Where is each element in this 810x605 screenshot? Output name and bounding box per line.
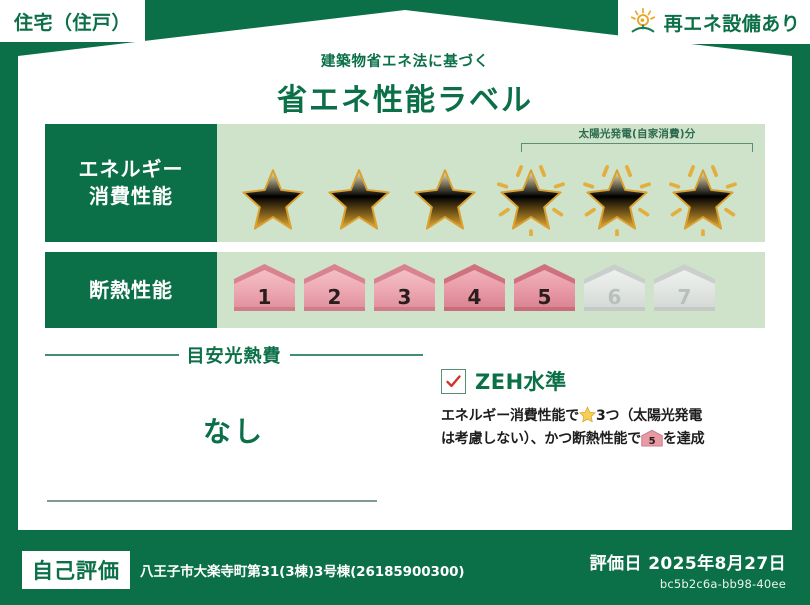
insulation-performance-body: 1234567 [217,252,765,328]
zeh-block: ZEH水準 エネルギー消費性能で 3つ（太陽光発電 は考慮しない）、かつ断熱性能… [423,342,765,512]
utility-cost-heading-text: 目安光熱費 [187,342,282,368]
zeh-desc-part2: は考慮しない）、かつ断熱性能で [441,431,641,447]
insulation-house-scale: 1234567 [231,261,718,315]
utility-cost-block: 目安光熱費 なし [45,342,423,512]
insulation-performance-label: 断熱性能 [45,252,217,328]
lower-section: 目安光熱費 なし ZEH水準 エネルギー消費性能で 3つ（太陽光発電 は考慮しな… [45,342,765,512]
utility-cost-heading: 目安光熱費 [45,342,423,368]
energy-star-rating [217,162,765,236]
utility-cost-bottom-rule [47,500,377,502]
insulation-house-number: 7 [678,285,692,315]
star-solar [575,162,659,236]
sun-icon [628,7,658,37]
insulation-label-text: 断熱性能 [89,277,173,304]
inline-house-icon: 5 [641,429,663,447]
energy-performance-row: エネルギー 消費性能 太陽光発電(自家消費)分 [45,124,765,242]
energy-performance-body: 太陽光発電(自家消費)分 [217,124,765,242]
inline-house-level: 5 [641,437,663,447]
evaluation-date: 評価日 2025年8月27日 [590,549,786,574]
insulation-house-number: 5 [538,285,552,315]
insulation-performance-row: 断熱性能 1234567 [45,252,765,328]
solar-bracket [521,143,753,152]
inline-star-icon [579,406,596,423]
utility-cost-value: なし [45,410,423,450]
zeh-checkbox[interactable] [441,369,466,394]
page-title: 省エネ性能ラベル [0,75,810,119]
building-type-badge: 住宅（住戸） [0,0,145,42]
insulation-house-number: 1 [258,285,272,315]
renewable-energy-badge: 再エネ設備あり [618,0,810,44]
footer-right: 評価日 2025年8月27日 bc5b2c6a-bb98-40ee [590,549,786,591]
title-block: 建築物省エネ法に基づく 省エネ性能ラベル [0,50,810,119]
energy-label-line1: エネルギー [79,156,184,183]
insulation-house-2: 2 [301,261,368,315]
heading-rule-right [290,354,424,356]
evaluation-date-label: 評価日 [590,554,642,574]
star-filled [403,162,487,236]
solar-annotation-label: 太陽光発電(自家消費)分 [521,126,753,141]
zeh-heading: ZEH水準 [441,366,765,396]
insulation-house-4: 4 [441,261,508,315]
check-icon [445,373,462,390]
star-filled [231,162,315,236]
star-solar [661,162,745,236]
energy-performance-label: エネルギー 消費性能 [45,124,217,242]
insulation-house-number: 2 [328,285,342,315]
zeh-title: ZEH水準 [475,366,567,396]
energy-label-line2: 消費性能 [89,183,173,210]
insulation-house-1: 1 [231,261,298,315]
renewable-energy-label: 再エネ設備あり [664,9,801,36]
insulation-house-5: 5 [511,261,578,315]
title-subtitle: 建築物省エネ法に基づく [0,50,810,71]
zeh-desc-part1: エネルギー消費性能で [441,408,579,424]
zeh-desc-star-count: 3つ（太陽光発電 [596,408,702,424]
insulation-house-6: 6 [581,261,648,315]
insulation-house-7: 7 [651,261,718,315]
zeh-desc-part3: を達成 [663,431,704,447]
document-id: bc5b2c6a-bb98-40ee [590,577,786,591]
heading-rule-left [45,354,179,356]
insulation-house-number: 3 [398,285,412,315]
property-address: 八王子市大楽寺町第31(3棟)3号棟(26185900300) [140,560,464,580]
insulation-house-number: 6 [608,285,622,315]
building-type-label: 住宅（住戸） [14,8,131,35]
self-evaluation-badge: 自己評価 [22,551,130,589]
solar-annotation: 太陽光発電(自家消費)分 [521,126,753,152]
zeh-description: エネルギー消費性能で 3つ（太陽光発電 は考慮しない）、かつ断熱性能で 5 を達… [441,405,765,451]
evaluation-date-value: 2025年8月27日 [648,554,786,574]
insulation-house-number: 4 [468,285,482,315]
star-filled [317,162,401,236]
insulation-house-3: 3 [371,261,438,315]
star-solar [489,162,573,236]
footer: 自己評価 八王子市大楽寺町第31(3棟)3号棟(26185900300) 評価日… [0,535,810,605]
